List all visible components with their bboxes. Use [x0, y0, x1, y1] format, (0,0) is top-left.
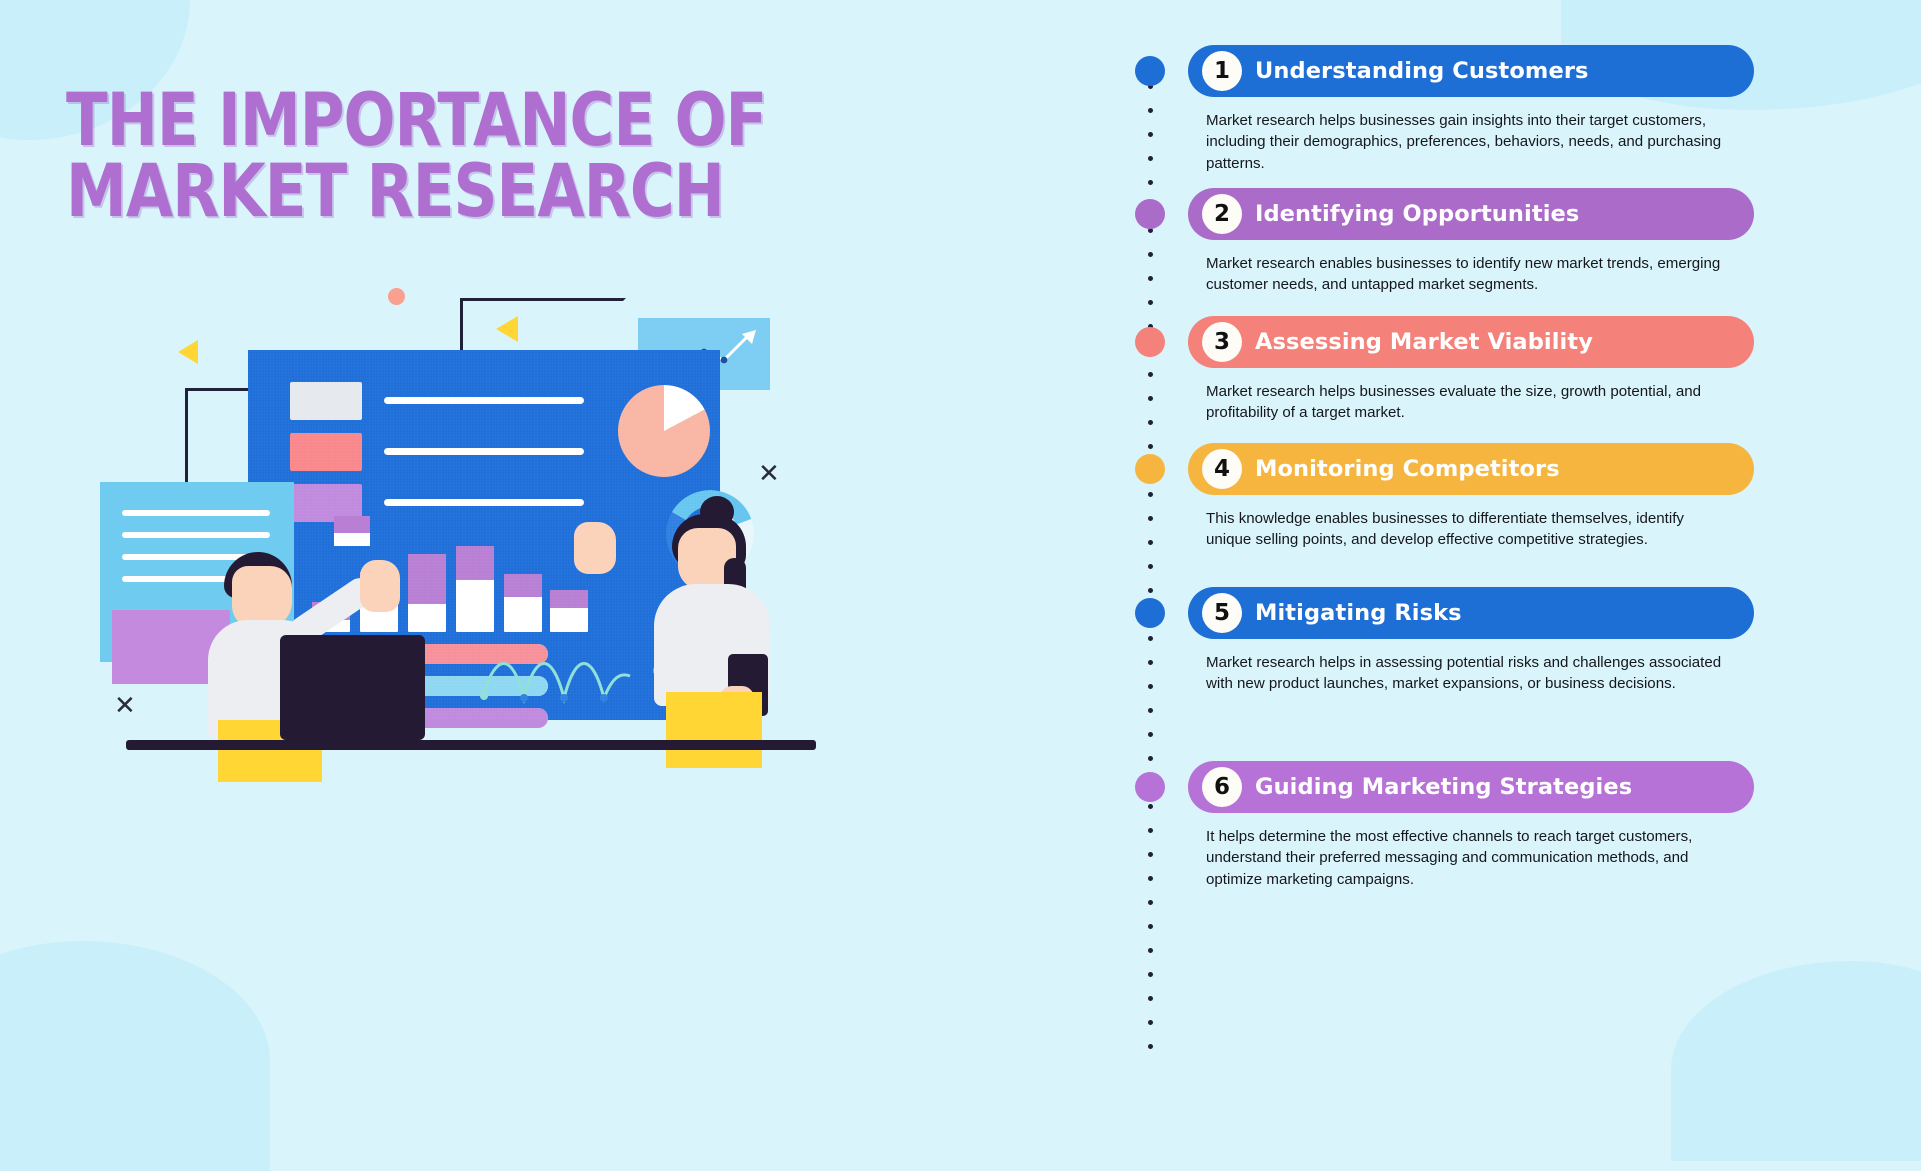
board-text-line-1: [384, 397, 584, 404]
timeline-rail-dot: [1148, 732, 1153, 737]
timeline-pill-4[interactable]: 4 Monitoring Competitors: [1188, 443, 1754, 495]
person-left-head: [232, 566, 292, 628]
timeline-node-4: [1135, 454, 1165, 484]
timeline-node-3: [1135, 327, 1165, 357]
bar-5: [504, 574, 542, 632]
timeline-rail-dot: [1148, 516, 1153, 521]
timeline-rail-dot: [1148, 948, 1153, 953]
legend-swatch-1: [290, 382, 362, 420]
timeline-rail-dot: [1148, 1044, 1153, 1049]
timeline-node-5: [1135, 598, 1165, 628]
timeline-heading-5: Mitigating Risks: [1255, 600, 1462, 626]
monitor: [280, 635, 425, 740]
timeline-description-1: Market research helps businesses gain in…: [1206, 110, 1726, 174]
timeline-rail-dot: [1148, 180, 1153, 185]
background-blob-bottom-right: [1671, 961, 1921, 1161]
timeline-item-5[interactable]: 5 Mitigating Risks Market research helps…: [1188, 587, 1754, 695]
timeline-rail-dot: [1148, 372, 1153, 377]
card-line-1: [122, 510, 270, 516]
timeline-heading-4: Monitoring Competitors: [1255, 456, 1560, 482]
timeline-rail-dot: [1148, 588, 1153, 593]
timeline-rail-dot: [1148, 972, 1153, 977]
person-right-hand-pointing: [574, 522, 616, 574]
timeline-rail-dot: [1148, 924, 1153, 929]
timeline-rail-dot: [1148, 1020, 1153, 1025]
timeline-rail-dot: [1148, 132, 1153, 137]
timeline-rail-dot: [1148, 540, 1153, 545]
timeline-rail-dot: [1148, 876, 1153, 881]
timeline-pill-2[interactable]: 2 Identifying Opportunities: [1188, 188, 1754, 240]
timeline-rail-dot: [1148, 636, 1153, 641]
illustration: ✕ ✕: [100, 270, 860, 790]
timeline-rail-dot: [1148, 900, 1153, 905]
page-title: THE IMPORTANCE OF MARKET RESEARCH: [66, 86, 810, 228]
timeline-rail-dot: [1148, 660, 1153, 665]
x-mark-right: ✕: [758, 458, 780, 489]
timeline-rail-dot: [1148, 252, 1153, 257]
timeline-badge-2: 2: [1202, 194, 1242, 234]
timeline-item-6[interactable]: 6 Guiding Marketing Strategies It helps …: [1188, 761, 1754, 890]
bar-3: [408, 554, 446, 632]
timeline-badge-1: 1: [1202, 51, 1242, 91]
timeline-rail-dot: [1148, 156, 1153, 161]
timeline-heading-1: Understanding Customers: [1255, 58, 1589, 84]
background-blob-bottom-left: [0, 941, 270, 1171]
coral-dot-top: [388, 288, 405, 305]
timeline-item-2[interactable]: 2 Identifying Opportunities Market resea…: [1188, 188, 1754, 296]
timeline-node-1: [1135, 56, 1165, 86]
page-title-line-1: THE IMPORTANCE OF: [66, 86, 810, 157]
board-text-line-2: [384, 448, 584, 455]
timeline-pill-1[interactable]: 1 Understanding Customers: [1188, 45, 1754, 97]
person-left-hand: [360, 560, 400, 612]
timeline-node-6: [1135, 772, 1165, 802]
progress-bar-3-fill: [424, 708, 548, 728]
timeline-description-6: It helps determine the most effective ch…: [1206, 826, 1726, 890]
timeline-rail-dot: [1148, 852, 1153, 857]
timeline-rail-dot: [1148, 444, 1153, 449]
timeline-rail-dot: [1148, 804, 1153, 809]
timeline-rail-dot: [1148, 396, 1153, 401]
infographic-canvas: THE IMPORTANCE OF MARKET RESEARCH ✕ ✕: [0, 0, 1921, 1081]
person-right: [582, 496, 782, 746]
timeline-rail-dot: [1148, 492, 1153, 497]
timeline-description-4: This knowledge enables businesses to dif…: [1206, 508, 1726, 551]
timeline-item-4[interactable]: 4 Monitoring Competitors This knowledge …: [1188, 443, 1754, 551]
board-text-line-3: [384, 499, 584, 506]
timeline-rail-dot: [1148, 420, 1153, 425]
timeline-badge-5: 5: [1202, 593, 1242, 633]
timeline-description-2: Market research enables businesses to id…: [1206, 253, 1726, 296]
timeline-pill-3[interactable]: 3 Assessing Market Viability: [1188, 316, 1754, 368]
timeline-rail-dot: [1148, 996, 1153, 1001]
x-mark-left: ✕: [114, 690, 136, 721]
timeline-badge-6: 6: [1202, 767, 1242, 807]
page-title-line-2: MARKET RESEARCH: [66, 157, 810, 228]
timeline-rail-dot: [1148, 276, 1153, 281]
timeline-rail-dot: [1148, 108, 1153, 113]
timeline-rail-dot: [1148, 756, 1153, 761]
timeline-rail-dot: [1148, 300, 1153, 305]
timeline-heading-3: Assessing Market Viability: [1255, 329, 1593, 355]
timeline-badge-4: 4: [1202, 449, 1242, 489]
timeline-node-2: [1135, 199, 1165, 229]
timeline-pill-6[interactable]: 6 Guiding Marketing Strategies: [1188, 761, 1754, 813]
bar-4: [456, 546, 494, 632]
timeline-heading-2: Identifying Opportunities: [1255, 201, 1579, 227]
timeline-rail-dot: [1148, 708, 1153, 713]
timeline-badge-3: 3: [1202, 322, 1242, 362]
timeline-heading-6: Guiding Marketing Strategies: [1255, 774, 1632, 800]
legend-swatch-2: [290, 433, 362, 471]
floor-line: [126, 740, 816, 750]
timeline-description-5: Market research helps in assessing poten…: [1206, 652, 1726, 695]
timeline-rail-dot: [1148, 564, 1153, 569]
person-right-pants: [666, 692, 762, 768]
timeline-item-1[interactable]: 1 Understanding Customers Market researc…: [1188, 45, 1754, 174]
yellow-triangle-right: [496, 316, 518, 342]
timeline-description-3: Market research helps businesses evaluat…: [1206, 381, 1726, 424]
pie-chart: [618, 385, 710, 477]
timeline-rail-dot: [1148, 684, 1153, 689]
yellow-triangle-left: [178, 340, 198, 364]
timeline-pill-5[interactable]: 5 Mitigating Risks: [1188, 587, 1754, 639]
timeline-item-3[interactable]: 3 Assessing Market Viability Market rese…: [1188, 316, 1754, 424]
progress-bar-1-fill: [414, 644, 548, 664]
timeline-rail-dot: [1148, 828, 1153, 833]
